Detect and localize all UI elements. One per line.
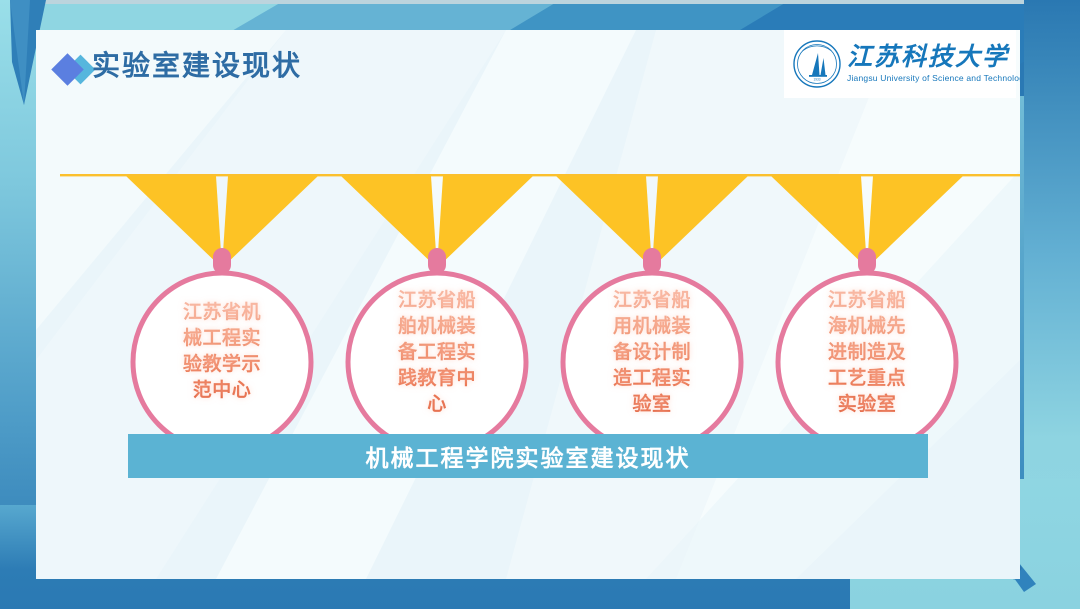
caption-text: 机械工程学院实验室建设现状 xyxy=(366,439,691,473)
university-logo-text: 江苏科技大学 Jiangsu University of Science and… xyxy=(847,44,1020,84)
slide-header: 实验室建设现状 1933 江苏科技大学 Jiangs xyxy=(36,30,1020,130)
lab-medallion-diagram: 江苏省机 械工程实 验教学示 范中心 江苏省船 舶机械装 备工程实 践教育中 心… xyxy=(36,130,1020,480)
medallion-label-3: 江苏省船 用机械装 备设计制 造工程实 验室 xyxy=(596,288,708,418)
university-logo: 1933 江苏科技大学 Jiangsu University of Scienc… xyxy=(784,30,1016,98)
svg-text:1933: 1933 xyxy=(813,78,820,82)
page-title: 实验室建设现状 xyxy=(92,44,302,88)
university-name-en: Jiangsu University of Science and Techno… xyxy=(847,73,1020,84)
caption-banner: 机械工程学院实验室建设现状 xyxy=(128,434,928,478)
university-seal-icon: 1933 xyxy=(792,39,842,89)
medallion-label-2: 江苏省船 舶机械装 备工程实 践教育中 心 xyxy=(381,288,493,418)
medallion-label-4: 江苏省船 海机械先 进制造及 工艺重点 实验室 xyxy=(811,288,923,418)
content-panel: 实验室建设现状 1933 江苏科技大学 Jiangs xyxy=(36,30,1020,579)
university-name-cn: 江苏科技大学 xyxy=(847,44,1020,72)
slide-root: 实验室建设现状 1933 江苏科技大学 Jiangs xyxy=(0,0,1080,609)
medallion-label-1: 江苏省机 械工程实 验教学示 范中心 xyxy=(166,300,278,404)
